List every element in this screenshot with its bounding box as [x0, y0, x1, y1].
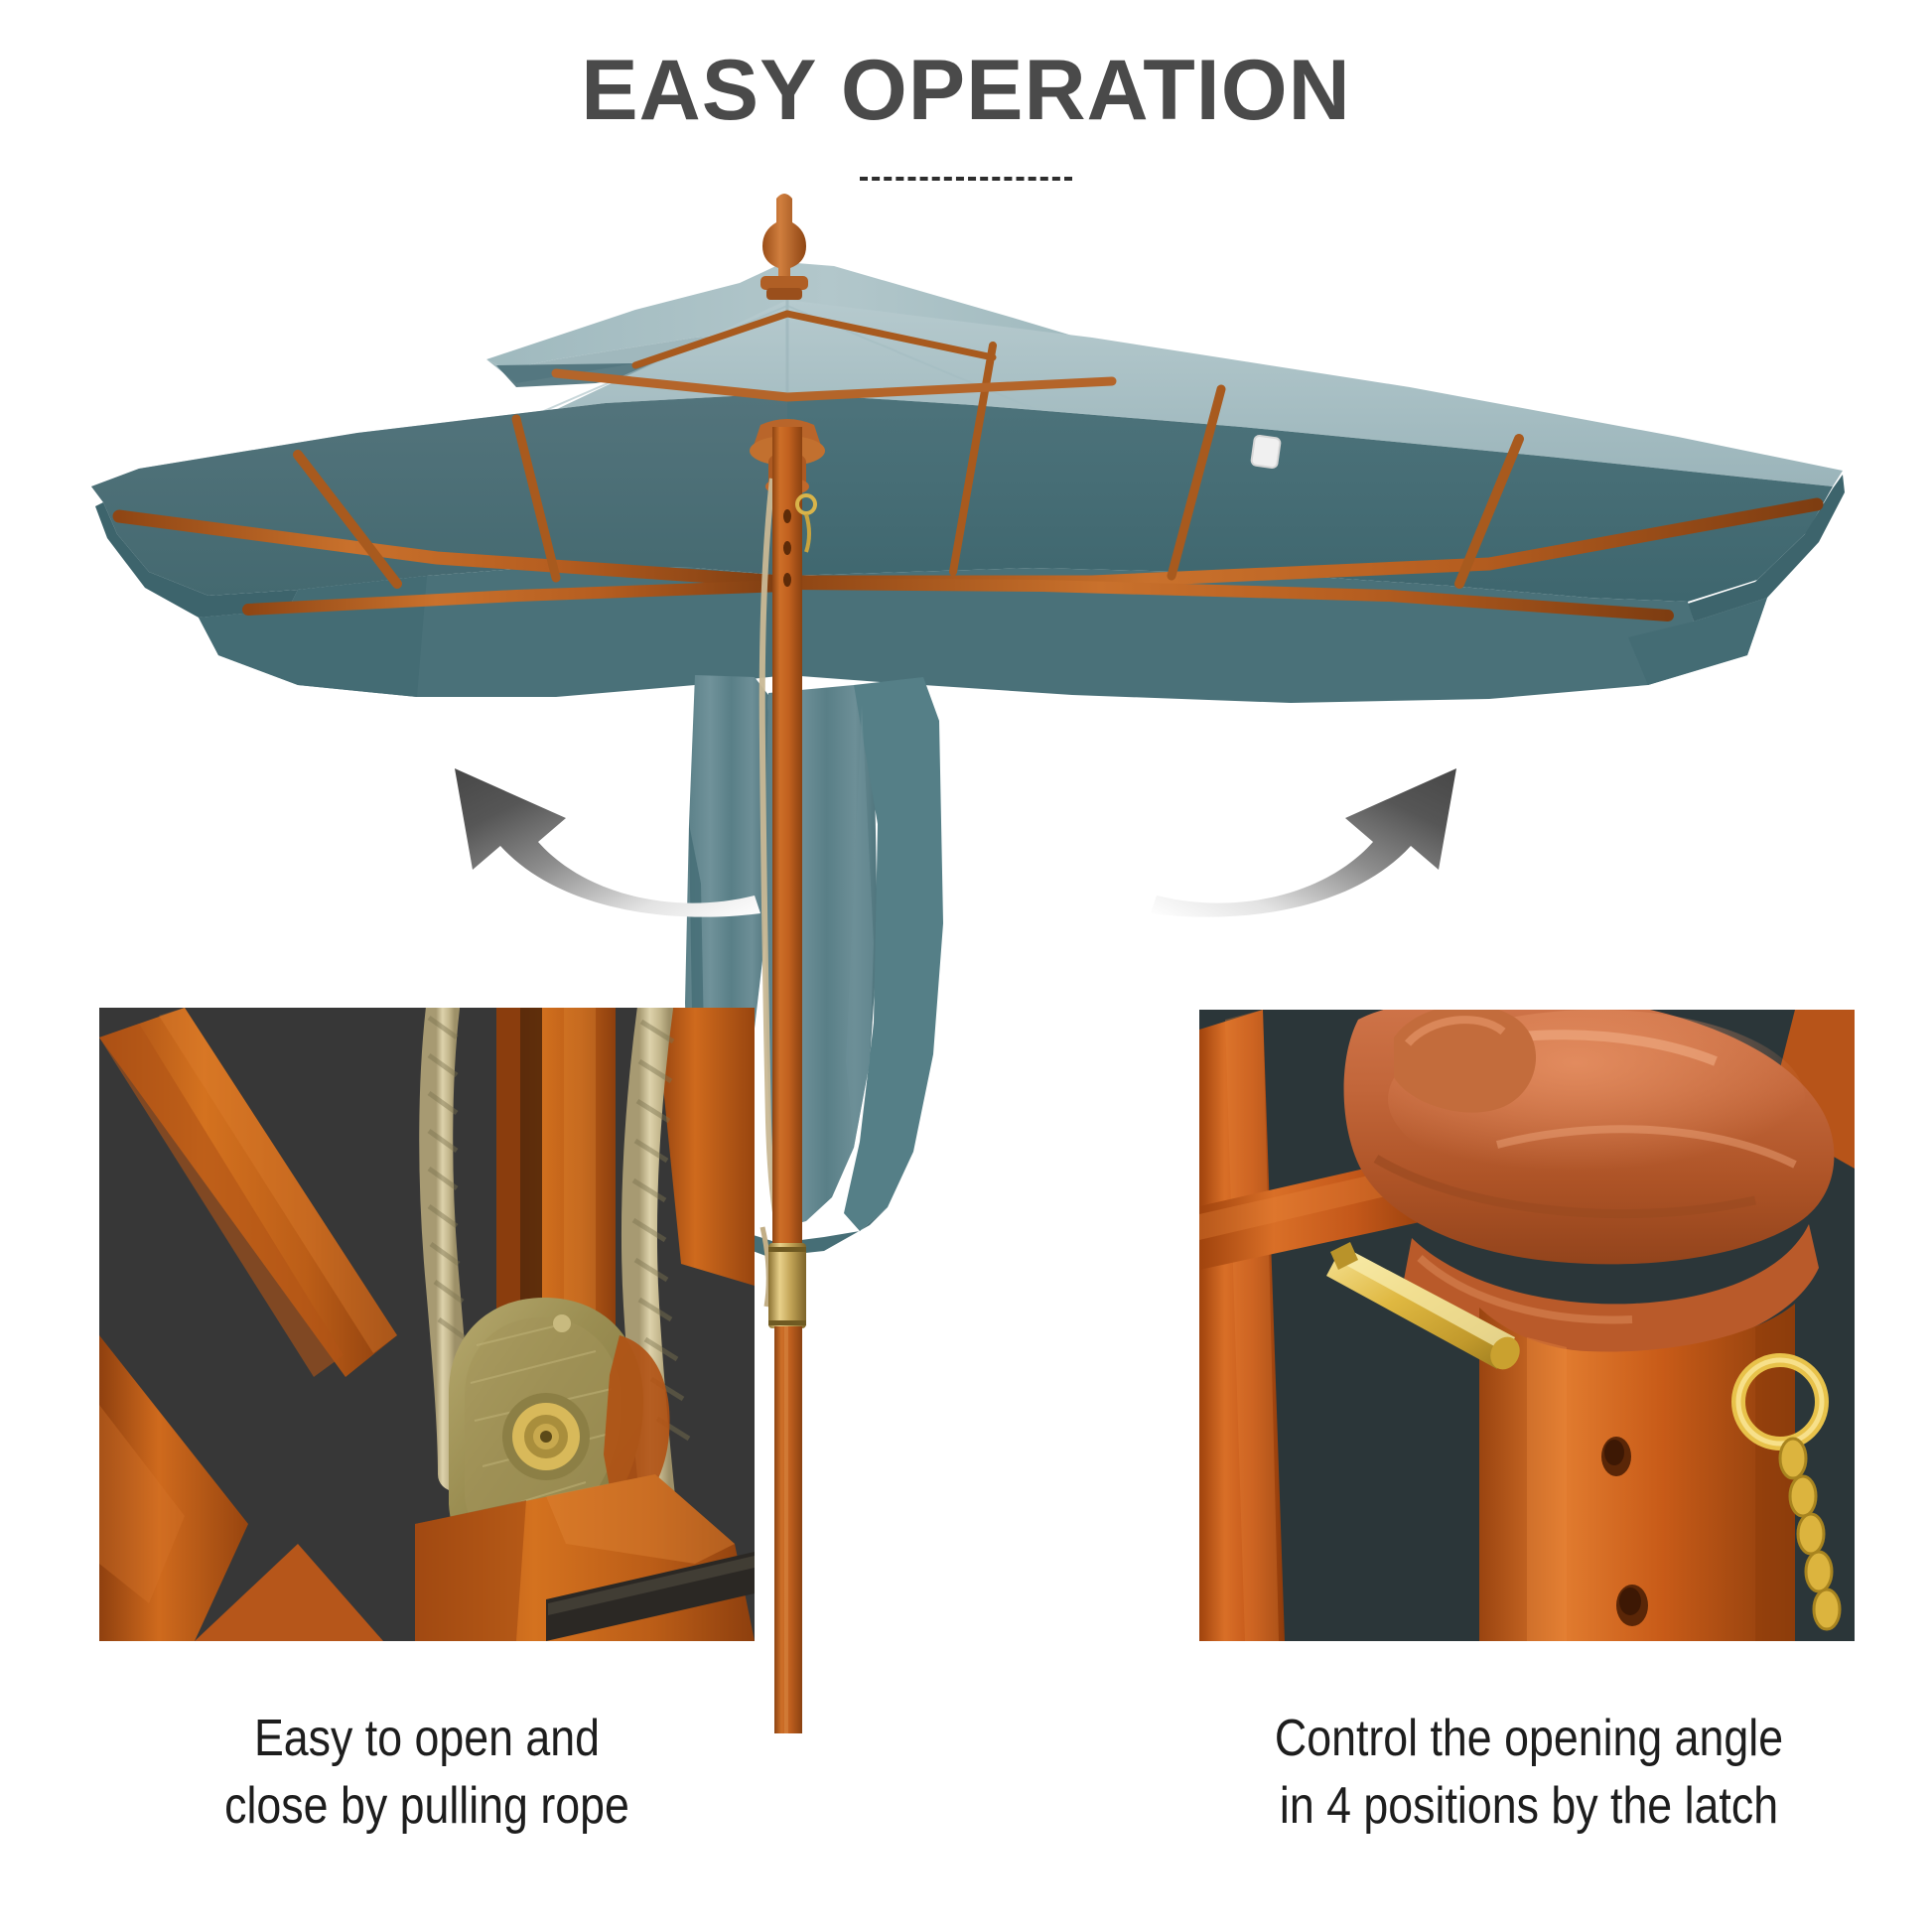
detail-photo-latch — [1199, 1010, 1855, 1641]
page-title: EASY OPERATION — [0, 46, 1932, 135]
caption-pulley-line2: close by pulling rope — [111, 1773, 743, 1841]
umbrella-pole — [768, 427, 806, 1733]
caption-latch: Control the opening angle in 4 positions… — [1196, 1706, 1863, 1840]
detail-photo-pulley — [99, 1008, 755, 1641]
umbrella-finial — [760, 194, 808, 300]
caption-pulley-line1: Easy to open and — [111, 1706, 743, 1773]
caption-latch-line2: in 4 positions by the latch — [1196, 1773, 1863, 1841]
caption-pulley: Easy to open and close by pulling rope — [111, 1706, 743, 1840]
pole-brass-collar — [768, 1243, 806, 1328]
rib-tag — [1251, 435, 1281, 468]
caption-latch-line1: Control the opening angle — [1196, 1706, 1863, 1773]
vertical-pole — [1479, 1304, 1795, 1641]
title-divider — [860, 177, 1072, 181]
